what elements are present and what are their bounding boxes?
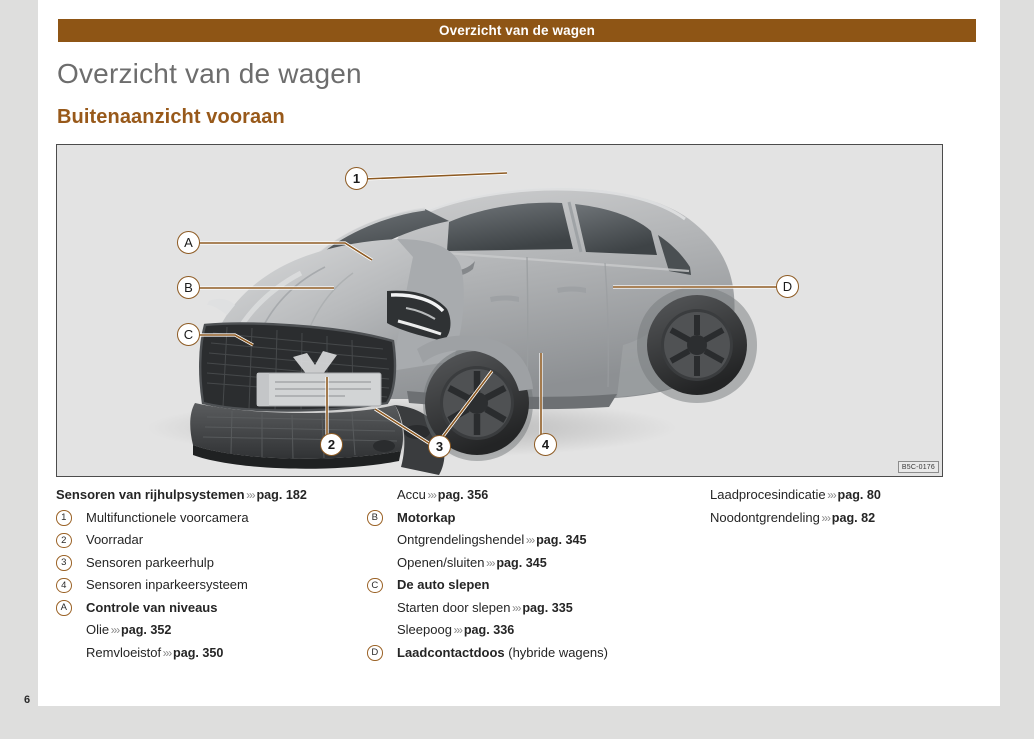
car-illustration-svg bbox=[57, 145, 941, 475]
legend-label: De auto slepen bbox=[397, 577, 489, 592]
legend-column-3: Laadprocesindicatie›››pag. 80Noodontgren… bbox=[710, 484, 1000, 529]
legend-label: Starten door slepen bbox=[397, 600, 510, 615]
figure-reference-code: B5C-0176 bbox=[898, 461, 939, 473]
legend-row: DLaadcontactdoos (hybride wagens) bbox=[367, 642, 707, 665]
legend-label: Multifunctionele voorcamera bbox=[86, 510, 249, 525]
callout-d: D bbox=[776, 275, 799, 298]
legend-label: Sensoren inparkeersysteem bbox=[86, 577, 248, 592]
document-page: Overzicht van de wagen Overzicht van de … bbox=[0, 0, 1034, 739]
page-reference-label: pag. 82 bbox=[832, 511, 875, 525]
page-reference-label: pag. 335 bbox=[522, 601, 572, 615]
page-reference[interactable]: ›››pag. 80 bbox=[826, 487, 881, 502]
legend-row: Sleepoog›››pag. 336 bbox=[367, 619, 707, 642]
page-reference[interactable]: ›››pag. 345 bbox=[484, 555, 546, 570]
legend-row: Olie›››pag. 352 bbox=[56, 619, 396, 642]
legend-note: (hybride wagens) bbox=[505, 645, 608, 660]
legend-row: 1Multifunctionele voorcamera bbox=[56, 507, 396, 530]
vehicle-illustration bbox=[57, 145, 942, 476]
legend-label: Laadprocesindicatie bbox=[710, 487, 826, 502]
legend-label: Laadcontactdoos bbox=[397, 645, 505, 660]
callout-a: A bbox=[177, 231, 200, 254]
chevron-right-icon: ››› bbox=[426, 488, 438, 502]
legend-marker-c: C bbox=[367, 578, 383, 594]
legend-row: 4Sensoren inparkeersysteem bbox=[56, 574, 396, 597]
chevron-right-icon: ››› bbox=[109, 623, 121, 637]
legend-row: Openen/sluiten›››pag. 345 bbox=[367, 552, 707, 575]
callout-4: 4 bbox=[534, 433, 557, 456]
page-reference-label: pag. 345 bbox=[536, 533, 586, 547]
legend-row: BMotorkap bbox=[367, 507, 707, 530]
page-reference-label: pag. 350 bbox=[173, 646, 223, 660]
page-reference-label: pag. 182 bbox=[256, 488, 306, 502]
page-reference[interactable]: ›››pag. 335 bbox=[510, 600, 572, 615]
legend-row: 2Voorradar bbox=[56, 529, 396, 552]
page-reference[interactable]: ›››pag. 350 bbox=[161, 645, 223, 660]
legend-label: Accu bbox=[397, 487, 426, 502]
legend-row: AControle van niveaus bbox=[56, 597, 396, 620]
legend-row: Laadprocesindicatie›››pag. 80 bbox=[710, 484, 1000, 507]
page-reference-label: pag. 352 bbox=[121, 623, 171, 637]
page-reference[interactable]: ›››pag. 345 bbox=[524, 532, 586, 547]
page-title: Overzicht van de wagen bbox=[57, 58, 362, 90]
legend-row: Sensoren van rijhulpsystemen›››pag. 182 bbox=[56, 484, 396, 507]
legend-row: Noodontgrendeling›››pag. 82 bbox=[710, 507, 1000, 530]
legend-label: Remvloeistof bbox=[86, 645, 161, 660]
page-reference-label: pag. 80 bbox=[838, 488, 881, 502]
section-title: Buitenaanzicht vooraan bbox=[57, 106, 285, 129]
legend-column-2: Accu›››pag. 356BMotorkapOntgrendelingshe… bbox=[367, 484, 707, 664]
legend-label: Voorradar bbox=[86, 532, 143, 547]
page-reference-label: pag. 345 bbox=[496, 556, 546, 570]
legend: Sensoren van rijhulpsystemen›››pag. 1821… bbox=[56, 484, 946, 684]
legend-marker-1: 1 bbox=[56, 510, 72, 526]
running-header-bar: Overzicht van de wagen bbox=[58, 19, 976, 42]
legend-label: Sensoren van rijhulpsystemen bbox=[56, 487, 245, 502]
legend-label: Openen/sluiten bbox=[397, 555, 484, 570]
chevron-right-icon: ››› bbox=[510, 601, 522, 615]
page-reference[interactable]: ›››pag. 356 bbox=[426, 487, 488, 502]
chevron-right-icon: ››› bbox=[524, 533, 536, 547]
legend-label: Noodontgrendeling bbox=[710, 510, 820, 525]
page-reference[interactable]: ›››pag. 182 bbox=[245, 487, 307, 502]
legend-marker-3: 3 bbox=[56, 555, 72, 571]
legend-label: Motorkap bbox=[397, 510, 456, 525]
legend-row: 3Sensoren parkeerhulp bbox=[56, 552, 396, 575]
page-reference-label: pag. 336 bbox=[464, 623, 514, 637]
legend-label: Ontgrendelingshendel bbox=[397, 532, 524, 547]
callout-c: C bbox=[177, 323, 200, 346]
callout-1: 1 bbox=[345, 167, 368, 190]
legend-row: Accu›››pag. 356 bbox=[367, 484, 707, 507]
callout-3: 3 bbox=[428, 435, 451, 458]
chevron-right-icon: ››› bbox=[161, 646, 173, 660]
legend-label: Sensoren parkeerhulp bbox=[86, 555, 214, 570]
legend-row: Ontgrendelingshendel›››pag. 345 bbox=[367, 529, 707, 552]
chevron-right-icon: ››› bbox=[826, 488, 838, 502]
legend-row: Starten door slepen›››pag. 335 bbox=[367, 597, 707, 620]
legend-marker-2: 2 bbox=[56, 533, 72, 549]
page-reference[interactable]: ›››pag. 336 bbox=[452, 622, 514, 637]
page-number: 6 bbox=[24, 694, 30, 706]
callout-b: B bbox=[177, 276, 200, 299]
chevron-right-icon: ››› bbox=[820, 511, 832, 525]
page-reference[interactable]: ›››pag. 352 bbox=[109, 622, 171, 637]
legend-marker-d: D bbox=[367, 645, 383, 661]
legend-marker-b: B bbox=[367, 510, 383, 526]
page-reference-label: pag. 356 bbox=[438, 488, 488, 502]
page-reference[interactable]: ›››pag. 82 bbox=[820, 510, 875, 525]
legend-row: CDe auto slepen bbox=[367, 574, 707, 597]
legend-label: Olie bbox=[86, 622, 109, 637]
chevron-right-icon: ››› bbox=[452, 623, 464, 637]
legend-label: Controle van niveaus bbox=[86, 600, 217, 615]
legend-marker-4: 4 bbox=[56, 578, 72, 594]
running-header-title: Overzicht van de wagen bbox=[439, 23, 595, 38]
legend-label: Sleepoog bbox=[397, 622, 452, 637]
chevron-right-icon: ››› bbox=[245, 488, 257, 502]
callout-2: 2 bbox=[320, 433, 343, 456]
legend-column-1: Sensoren van rijhulpsystemen›››pag. 1821… bbox=[56, 484, 396, 664]
legend-row: Remvloeistof›››pag. 350 bbox=[56, 642, 396, 665]
vehicle-figure: 1 2 3 4 A B C D B5C-0176 bbox=[56, 144, 943, 477]
legend-marker-a: A bbox=[56, 600, 72, 616]
chevron-right-icon: ››› bbox=[484, 556, 496, 570]
